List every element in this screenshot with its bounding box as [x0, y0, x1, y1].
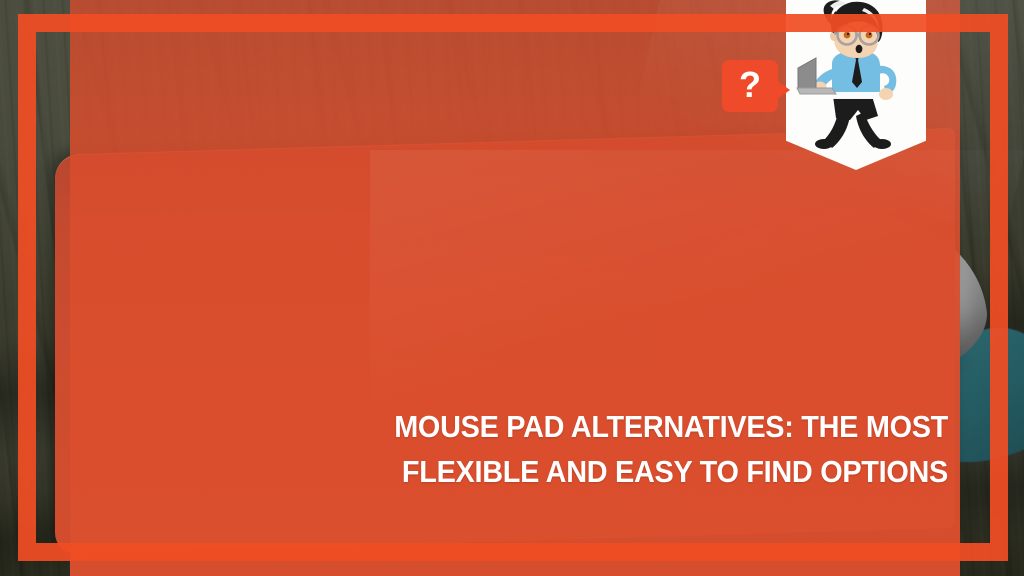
question-bubble-tail [776, 80, 790, 100]
question-mark-icon: ? [722, 60, 778, 112]
mascot-mouth [856, 45, 863, 53]
page-title: MOUSE PAD ALTERNATIVES: THE MOST FLEXIBL… [353, 404, 948, 494]
mascot-illustration [786, 0, 926, 170]
hero-banner: MOUSE PAD ALTERNATIVES: THE MOST FLEXIBL… [0, 0, 1024, 576]
mascot-legs [815, 96, 891, 149]
